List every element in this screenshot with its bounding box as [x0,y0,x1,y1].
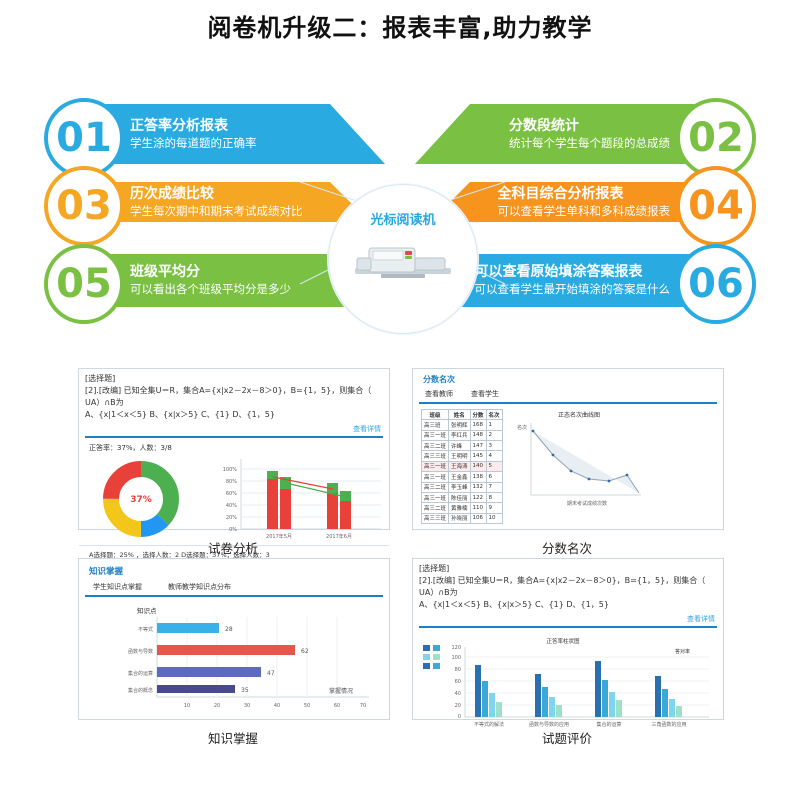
feature-02[interactable]: 分数段统计 统计每个学生每个题段的总成绩 02 [446,104,756,164]
score-rank-table: 班级 姓名 分数 名次 高三班张明辉1681 高三一班李红兵1482 高三二班许… [421,409,503,524]
feature-02-number: 02 [685,118,747,158]
score-rank-tabs[interactable]: 查看教师 查看学生 [413,385,723,402]
question-eval-detail-link[interactable]: 查看详情 [413,613,723,626]
table-row[interactable]: 高三二班许峰1473 [422,441,503,451]
svg-text:80%: 80% [226,479,237,485]
svg-text:集合的概念: 集合的概念 [128,687,153,694]
tab-teacher-distribution[interactable]: 教师教学知识点分布 [168,582,231,592]
svg-text:30: 30 [244,703,250,709]
svg-text:60%: 60% [226,491,237,497]
question-eval-header-line-3: A、{x|1＜x＜5} B、{x|x＞5} C、{1} D、{1，5} [419,599,717,611]
tab-view-student[interactable]: 查看学生 [471,389,499,399]
svg-text:50: 50 [304,703,310,709]
feature-03-sub: 学生每次期中和期末考试成绩对比 [130,204,303,220]
feature-06-badge: 06 [676,244,756,324]
svg-text:集合的运算: 集合的运算 [596,721,621,728]
feature-02-heading: 分数段统计 [509,117,670,136]
col-rank: 名次 [486,410,502,420]
table-row[interactable]: 高三二班李玉峰1327 [422,482,503,492]
svg-text:28: 28 [225,626,233,633]
table-row[interactable]: 高三一班陈佳丽1228 [422,492,503,502]
paper-analysis-header-line-3: A、{x|1＜x＜5} B、{x|x＞5} C、{1} D、{1，5} [85,409,383,421]
feature-diagram: 01 正答率分析报表 学生涂的每道题的正确率 分数段统计 统计每个学生每个题段的… [0,52,800,352]
paper-analysis-header-line-1: [选择题] [85,373,383,385]
svg-text:60: 60 [334,703,340,709]
paper-analysis-stats: 正答率：37%，人数：3/8 [79,438,389,453]
feature-05-number: 05 [53,264,115,304]
svg-text:函数与导数: 函数与导数 [128,648,153,655]
svg-text:100%: 100% [223,467,238,473]
knowledge-chart-axis-title: 知识点 [137,606,157,615]
table-row[interactable]: 高三二班黄雅楠1109 [422,503,503,513]
svg-text:不等式的解法: 不等式的解法 [474,721,504,728]
svg-text:40: 40 [274,703,280,709]
paper-analysis-header: [选择题] [2].[改编] 已知全集U＝R，集合A={x|x2－2x－8＞0}… [79,369,389,423]
tab-view-teacher[interactable]: 查看教师 [425,389,453,399]
feature-06-heading: 可以查看原始填涂答案报表 [475,263,671,282]
svg-text:名次: 名次 [517,424,527,431]
table-row[interactable]: 高三一班王金鑫1386 [422,472,503,482]
caption-question-evaluation: 试题评价 [412,728,722,747]
question-eval-legend-right: 答对率 [675,648,690,655]
feature-04-heading: 全科目综合分析报表 [498,185,671,204]
feature-05[interactable]: 05 班级平均分 可以看出各个班级平均分是多少 [44,254,354,307]
table-row[interactable]: 高三三班孙晓丽10610 [422,513,503,523]
feature-05-sub: 可以看出各个班级平均分是多少 [130,282,291,298]
question-eval-header: [选择题] [2].[改编] 已知全集U＝R，集合A={x|x2－2x－8＞0}… [413,559,723,613]
svg-text:三角函数的应用: 三角函数的应用 [651,721,686,728]
knowledge-chart: 知识点 28 62 47 35 不等式 函数与导数 集合的运算 集合的概念 10… [79,601,387,719]
svg-text:20%: 20% [226,515,237,521]
donut-center-label: 37% [130,495,152,505]
tab-student-mastery[interactable]: 学生知识点掌握 [93,582,142,592]
question-eval-chart: 正答率柱状图 答对率 120 100 80 60 40 20 0 [413,631,721,735]
col-name: 姓名 [449,410,471,420]
center-label: 光标阅读机 [370,209,435,228]
svg-text:20: 20 [214,703,220,709]
screenshot-score-rank[interactable]: 分数名次 查看教师 查看学生 班级 姓名 分数 名次 高三班张明辉1681 高三… [412,368,724,530]
col-class: 班级 [422,410,449,420]
screenshot-paper-analysis[interactable]: [选择题] [2].[改编] 已知全集U＝R，集合A={x|x2－2x－8＞0}… [78,368,390,530]
feature-06[interactable]: 可以查看原始填涂答案报表 可以查看学生最开始填涂的答案是什么 06 [446,254,756,307]
divider [85,595,383,597]
feature-04-badge: 04 [676,166,756,246]
feature-03-number: 03 [53,186,115,226]
feature-03-heading: 历次成绩比较 [130,185,303,204]
score-rank-chart-title: 正态名次曲线图 [558,411,600,419]
svg-text:70: 70 [360,703,366,709]
feature-03[interactable]: 03 历次成绩比较 学生每次期中和期末考试成绩对比 [44,182,354,222]
page-title: 阅卷机升级二：报表丰富,助力教学 [0,8,800,43]
feature-01-heading: 正答率分析报表 [130,117,257,136]
feature-01-sub: 学生涂的每道题的正确率 [130,136,257,152]
table-row[interactable]: 高三一班王海涛1405 [422,461,503,471]
knowledge-title: 知识掌握 [79,559,389,577]
feature-06-sub: 可以查看学生最开始填涂的答案是什么 [475,282,671,298]
svg-text:10: 10 [184,703,190,709]
caption-knowledge-mastery: 知识掌握 [78,728,388,747]
table-row[interactable]: 高三班张明辉1681 [422,420,503,430]
knowledge-tabs[interactable]: 学生知识点掌握 教师教学知识点分布 [79,577,389,595]
feature-03-badge: 03 [44,166,124,246]
svg-text:47: 47 [267,670,275,677]
score-rank-chart: 正态名次曲线图 名次 期末考试成绩次数 [509,409,649,524]
paper-analysis-charts: 37% 100% 80% 60% 40% 20% 0% [79,453,387,545]
svg-text:35: 35 [241,687,249,694]
svg-text:80: 80 [455,667,461,673]
feature-05-badge: 05 [44,244,124,324]
feature-04[interactable]: 全科目综合分析报表 可以查看学生单科和多科成绩报表 04 [446,182,756,222]
svg-text:120: 120 [451,645,461,651]
chart-legend [423,645,440,669]
feature-04-number: 04 [685,186,747,226]
paper-analysis-detail-link[interactable]: 查看详情 [79,423,389,436]
caption-paper-analysis: 试卷分析 [78,538,388,557]
feature-01[interactable]: 01 正答率分析报表 学生涂的每道题的正确率 [44,104,354,164]
table-row[interactable]: 高三一班李红兵1482 [422,430,503,440]
screenshot-knowledge-mastery[interactable]: 知识掌握 学生知识点掌握 教师教学知识点分布 知识点 28 62 47 35 不… [78,558,390,720]
feature-06-number: 06 [685,264,747,304]
svg-text:0%: 0% [229,527,237,533]
question-eval-header-line-2: [2].[改编] 已知全集U＝R，集合A={x|x2－2x－8＞0}，B={1，… [419,575,717,599]
report-screenshots: [选择题] [2].[改编] 已知全集U＝R，集合A={x|x2－2x－8＞0}… [0,360,800,760]
svg-text:20: 20 [455,703,461,709]
divider [419,626,717,628]
paper-analysis-header-line-2: [2].[改编] 已知全集U＝R，集合A={x|x2－2x－8＞0}，B={1，… [85,385,383,409]
svg-text:0: 0 [458,714,461,720]
svg-text:不等式: 不等式 [138,626,153,633]
svg-text:期末考试成绩次数: 期末考试成绩次数 [567,500,607,507]
svg-text:掌握情况: 掌握情况 [329,687,353,695]
center-node: 光标阅读机 [328,184,478,334]
svg-text:40: 40 [455,691,461,697]
svg-text:60: 60 [455,679,461,685]
question-eval-header-line-1: [选择题] [419,563,717,575]
feature-04-sub: 可以查看学生单科和多科成绩报表 [498,204,671,220]
svg-text:集合的运算: 集合的运算 [128,670,153,677]
svg-text:函数与导数的应用: 函数与导数的应用 [529,721,569,728]
svg-text:100: 100 [451,655,461,661]
feature-05-heading: 班级平均分 [130,263,291,282]
feature-02-sub: 统计每个学生每个题段的总成绩 [509,136,670,152]
screenshot-question-evaluation[interactable]: [选择题] [2].[改编] 已知全集U＝R，集合A={x|x2－2x－8＞0}… [412,558,724,720]
svg-text:40%: 40% [226,503,237,509]
score-rank-title: 分数名次 [413,369,723,385]
table-row[interactable]: 高三三班王明明1454 [422,451,503,461]
optical-mark-reader-icon [351,234,455,290]
svg-text:62: 62 [301,648,309,655]
col-score: 分数 [470,410,486,420]
caption-score-rank: 分数名次 [412,538,722,557]
question-eval-chart-title: 正答率柱状图 [546,637,580,645]
feature-01-number: 01 [53,118,115,158]
